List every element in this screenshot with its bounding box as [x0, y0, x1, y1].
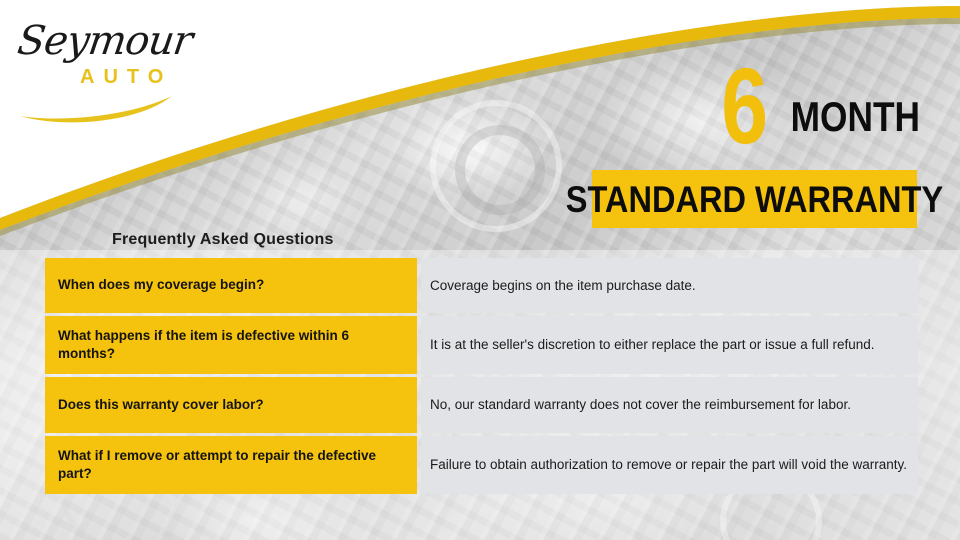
faq-heading: Frequently Asked Questions [112, 231, 334, 249]
logo-wordmark: Seymour [15, 18, 195, 64]
faq-question-text: Does this warranty cover labor? [58, 396, 264, 414]
faq-answer-cell: No, our standard warranty does not cover… [421, 377, 918, 433]
faq-question-cell: When does my coverage begin? [45, 258, 417, 313]
faq-question-cell: What happens if the item is defective wi… [45, 316, 417, 374]
faq-question-cell: What if I remove or attempt to repair th… [45, 436, 417, 494]
faq-answer-cell: It is at the seller's discretion to eith… [421, 316, 918, 374]
faq-question-text: What if I remove or attempt to repair th… [58, 447, 404, 483]
faq-answer-cell: Failure to obtain authorization to remov… [421, 436, 918, 494]
faq-question-cell: Does this warranty cover labor? [45, 377, 417, 433]
duration-unit: MONTH [791, 96, 920, 138]
faq-question-text: When does my coverage begin? [58, 276, 264, 294]
faq-answer-text: It is at the seller's discretion to eith… [430, 335, 909, 355]
faq-question-text: What happens if the item is defective wi… [58, 327, 404, 363]
warranty-slide: Seymour AUTO 6 MONTH STANDARD WARRANTY F… [0, 0, 960, 540]
table-row: What if I remove or attempt to repair th… [45, 436, 918, 494]
brand-logo[interactable]: Seymour AUTO [18, 18, 198, 114]
table-row: What happens if the item is defective wi… [45, 316, 918, 374]
duration-headline: 6 MONTH [600, 58, 920, 163]
faq-answer-text: Coverage begins on the item purchase dat… [430, 276, 909, 296]
table-row: Does this warranty cover labor? No, our … [45, 377, 918, 433]
faq-table: When does my coverage begin? Coverage be… [45, 258, 918, 494]
faq-answer-text: No, our standard warranty does not cover… [430, 395, 909, 415]
logo-subtext: AUTO [80, 66, 172, 89]
duration-number: 6 [721, 52, 768, 160]
table-row: When does my coverage begin? Coverage be… [45, 258, 918, 313]
faq-answer-text: Failure to obtain authorization to remov… [430, 455, 909, 475]
warranty-banner: STANDARD WARRANTY [592, 170, 917, 228]
warranty-banner-label: STANDARD WARRANTY [566, 181, 943, 218]
faq-answer-cell: Coverage begins on the item purchase dat… [421, 258, 918, 313]
